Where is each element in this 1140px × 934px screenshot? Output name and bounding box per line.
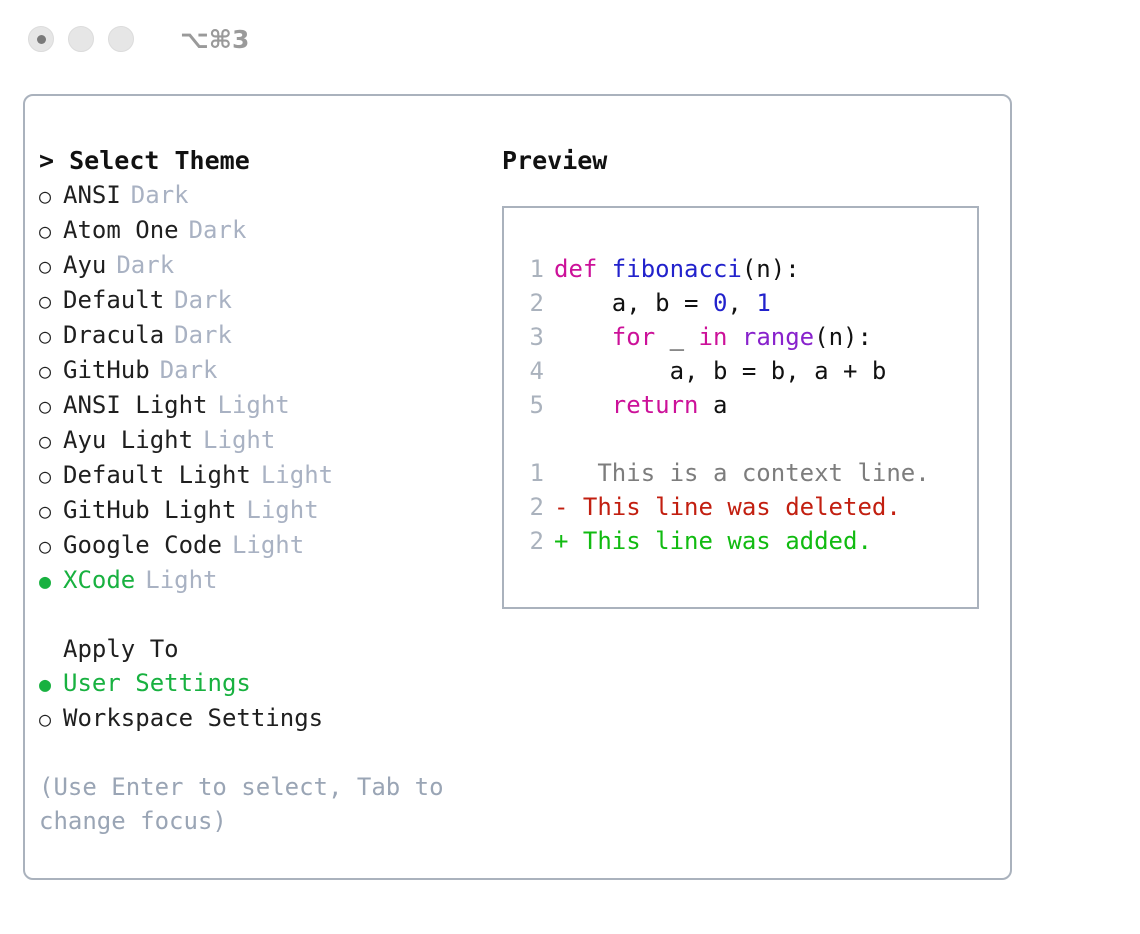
diff-text: This line was deleted.: [568, 490, 900, 524]
theme-list-item[interactable]: ○DefaultDark: [39, 283, 489, 318]
theme-type-tag: Light: [261, 458, 333, 492]
theme-list-item[interactable]: ○Default LightLight: [39, 458, 489, 493]
line-number: 2: [518, 490, 544, 524]
theme-list-item[interactable]: ○AyuDark: [39, 248, 489, 283]
apply-to-item-workspace-settings[interactable]: ○Workspace Settings: [39, 701, 489, 736]
theme-selector-column: > Select Theme ○ANSIDark ○Atom OneDark ○…: [39, 144, 489, 838]
apply-to-label: User Settings: [63, 666, 251, 700]
diff-line-context: 1 This is a context line.: [518, 456, 977, 490]
diff-separator: [518, 422, 977, 456]
diff-text: This is a context line.: [568, 456, 929, 490]
radio-marker-icon: ○: [39, 702, 63, 736]
theme-list-item[interactable]: ○GitHub LightLight: [39, 493, 489, 528]
code-token-plain: a: [699, 391, 728, 419]
apply-to-item-user-settings[interactable]: ●User Settings: [39, 666, 489, 701]
theme-list-item[interactable]: ○DraculaDark: [39, 318, 489, 353]
theme-type-tag: Dark: [131, 178, 189, 212]
theme-type-tag: Light: [232, 528, 304, 562]
apply-to-list: ●User Settings ○Workspace Settings: [39, 666, 489, 736]
line-number: 4: [518, 354, 544, 388]
code-line: 4 a, b = b, a + b: [518, 354, 977, 388]
section-spacer: [39, 598, 489, 632]
theme-list-item[interactable]: ○ANSIDark: [39, 178, 489, 213]
line-number: 1: [518, 456, 544, 490]
theme-list-item-selected[interactable]: ●XCodeLight: [39, 563, 489, 598]
theme-type-tag: Light: [203, 423, 275, 457]
diff-text: This line was added.: [568, 524, 871, 558]
code-line: 1def fibonacci(n):: [518, 252, 977, 286]
code-token-plain: a, b =: [554, 289, 713, 317]
window-dot-active-icon[interactable]: [28, 26, 54, 52]
code-token-plain: _: [655, 323, 698, 351]
code-token-plain: a, b = b, a + b: [554, 357, 886, 385]
theme-name: Dracula: [63, 318, 164, 352]
preview-box: 1def fibonacci(n): 2 a, b = 0, 1 3 for _…: [502, 206, 979, 609]
radio-marker-selected-icon: ●: [39, 667, 63, 701]
theme-list-item[interactable]: ○Ayu LightLight: [39, 423, 489, 458]
theme-list-item[interactable]: ○GitHubDark: [39, 353, 489, 388]
theme-list-item[interactable]: ○ANSI LightLight: [39, 388, 489, 423]
radio-marker-icon: ○: [39, 179, 63, 213]
radio-marker-icon: ○: [39, 249, 63, 283]
theme-name: Default: [63, 283, 164, 317]
diff-marker-icon: [554, 456, 568, 490]
code-token-number: 1: [756, 289, 770, 317]
theme-type-tag: Dark: [174, 283, 232, 317]
theme-type-tag: Light: [218, 388, 290, 422]
radio-marker-icon: ○: [39, 389, 63, 423]
line-number: 1: [518, 252, 544, 286]
code-token-plain: ,: [727, 289, 756, 317]
diff-marker-plus-icon: +: [554, 524, 568, 558]
theme-type-tag: Dark: [160, 353, 218, 387]
main-panel: > Select Theme ○ANSIDark ○Atom OneDark ○…: [23, 94, 1012, 880]
apply-to-heading: Apply To: [39, 632, 489, 666]
code-token-plain: (n):: [742, 255, 800, 283]
radio-marker-icon: ○: [39, 284, 63, 318]
record-dot-icon: [37, 35, 46, 44]
line-number: 5: [518, 388, 544, 422]
theme-name: Atom One: [63, 213, 179, 247]
hint-spacer: [39, 736, 489, 770]
theme-name: Ayu: [63, 248, 106, 282]
theme-name: Ayu Light: [63, 423, 193, 457]
preview-column: Preview 1def fibonacci(n): 2 a, b = 0, 1…: [502, 144, 1002, 609]
code-token-plain: [554, 391, 612, 419]
code-line: 5 return a: [518, 388, 977, 422]
preview-heading: Preview: [502, 144, 1002, 178]
code-token-keyword: return: [612, 391, 699, 419]
code-token-plain: (n):: [814, 323, 872, 351]
theme-name: XCode: [63, 563, 135, 597]
app-window: ⌥⌘3 > Select Theme ○ANSIDark ○Atom OneDa…: [0, 0, 1140, 934]
code-token-keyword: in: [699, 323, 728, 351]
code-line: 3 for _ in range(n):: [518, 320, 977, 354]
theme-list-item[interactable]: ○Google CodeLight: [39, 528, 489, 563]
theme-list: ○ANSIDark ○Atom OneDark ○AyuDark ○Defaul…: [39, 178, 489, 598]
radio-marker-icon: ○: [39, 494, 63, 528]
radio-marker-icon: ○: [39, 319, 63, 353]
radio-marker-icon: ○: [39, 424, 63, 458]
code-token-keyword: for: [612, 323, 655, 351]
select-theme-heading-label: Select Theme: [69, 146, 250, 175]
theme-type-tag: Light: [145, 563, 217, 597]
radio-marker-icon: ○: [39, 529, 63, 563]
line-number: 3: [518, 320, 544, 354]
keyboard-shortcut-label: ⌥⌘3: [180, 25, 249, 54]
diff-line-deleted: 2- This line was deleted.: [518, 490, 977, 524]
apply-to-label: Workspace Settings: [63, 701, 323, 735]
window-dot-2-icon[interactable]: [68, 26, 94, 52]
radio-marker-icon: ○: [39, 354, 63, 388]
code-token-plain: [554, 323, 612, 351]
theme-name: ANSI Light: [63, 388, 208, 422]
window-dot-3-icon[interactable]: [108, 26, 134, 52]
theme-type-tag: Light: [246, 493, 318, 527]
theme-name: Google Code: [63, 528, 222, 562]
prompt-caret-icon: >: [39, 146, 54, 175]
theme-name: Default Light: [63, 458, 251, 492]
diff-line-added: 2+ This line was added.: [518, 524, 977, 558]
code-token-keyword: def: [554, 255, 612, 283]
radio-marker-icon: ○: [39, 214, 63, 248]
theme-list-item[interactable]: ○Atom OneDark: [39, 213, 489, 248]
radio-marker-icon: ○: [39, 459, 63, 493]
line-number: 2: [518, 286, 544, 320]
keyboard-hint-text: (Use Enter to select, Tab to change focu…: [39, 770, 459, 838]
theme-name: GitHub Light: [63, 493, 236, 527]
diff-marker-minus-icon: -: [554, 490, 568, 524]
theme-name: GitHub: [63, 353, 150, 387]
code-token-number: 0: [713, 289, 727, 317]
theme-type-tag: Dark: [116, 248, 174, 282]
theme-type-tag: Dark: [189, 213, 247, 247]
select-theme-heading: > Select Theme: [39, 144, 489, 178]
code-token-function: fibonacci: [612, 255, 742, 283]
code-token-plain: [727, 323, 741, 351]
window-titlebar: ⌥⌘3: [0, 0, 1140, 78]
theme-name: ANSI: [63, 178, 121, 212]
theme-type-tag: Dark: [174, 318, 232, 352]
code-token-builtin: range: [742, 323, 814, 351]
line-number: 2: [518, 524, 544, 558]
code-line: 2 a, b = 0, 1: [518, 286, 977, 320]
radio-marker-selected-icon: ●: [39, 564, 63, 598]
